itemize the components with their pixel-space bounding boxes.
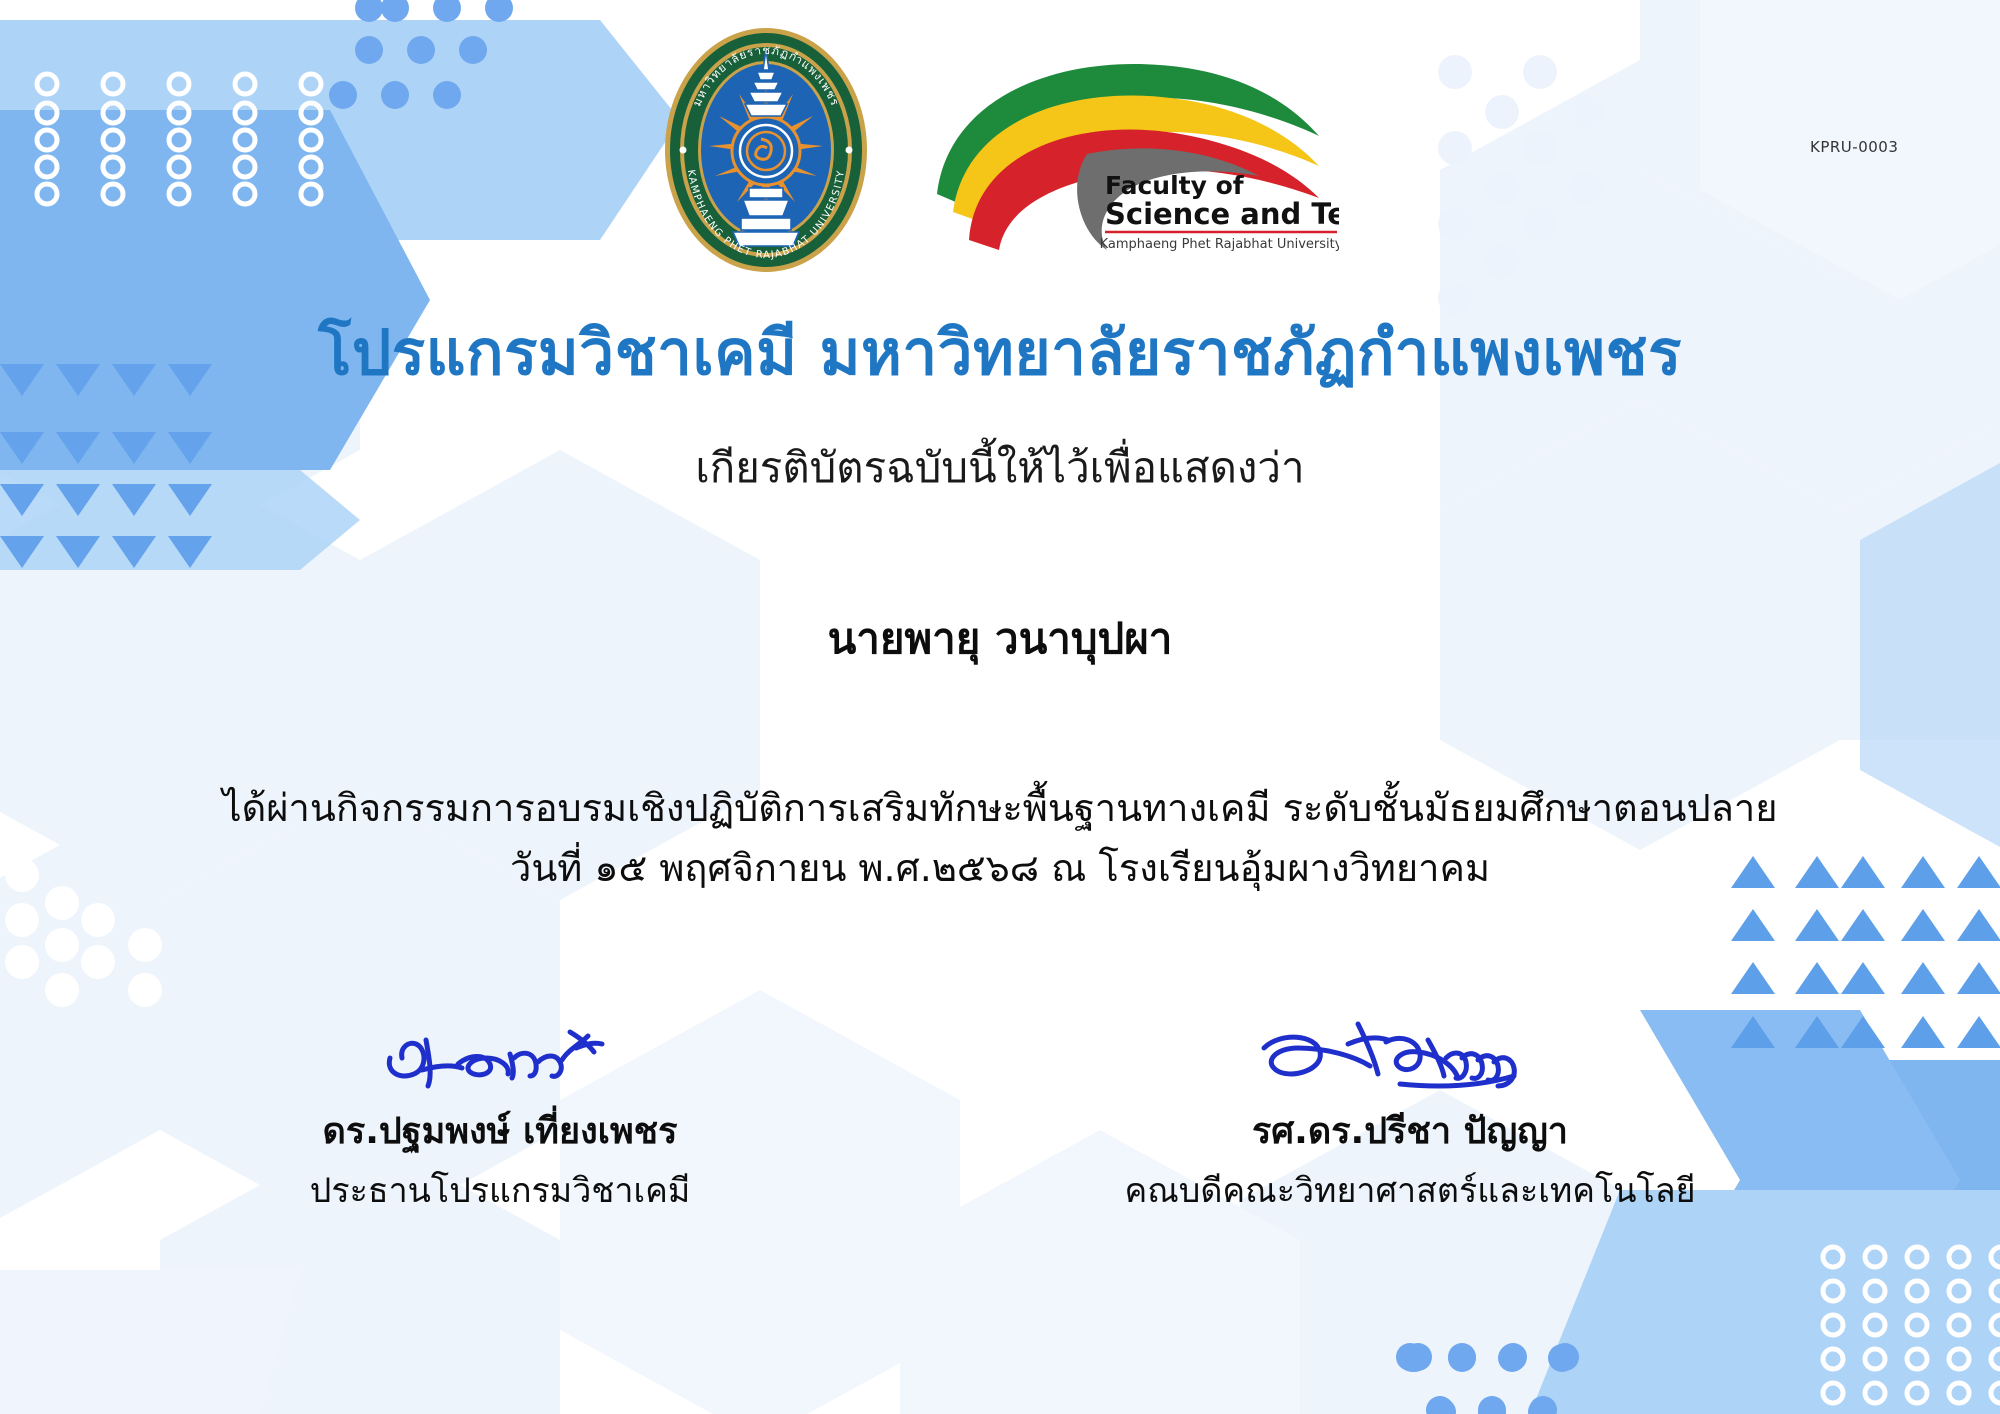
faculty-of-science-and-technology-logo-icon: Faculty of Science and Technology Kampha… — [919, 44, 1339, 258]
faculty-logo-line3: Kamphaeng Phet Rajabhat University — [1100, 237, 1339, 252]
recipient-name: นายพายุ วนาบุปผา — [0, 606, 2000, 672]
certificate-page: KPRU-0003 — [0, 0, 2000, 1414]
body-line-1: ได้ผ่านกิจกรรมการอบรมเชิงปฏิบัติการเสริม… — [0, 778, 2000, 838]
page-title: โปรแกรมวิชาเคมี มหาวิทยาลัยราชภัฏกำแพงเพ… — [0, 318, 2000, 387]
signature-name-right: รศ.ดร.ปรีชา ปัญญา — [1090, 1102, 1730, 1159]
signature-role-right: คณบดีคณะวิทยาศาสตร์และเทคโนโลยี — [1090, 1163, 1730, 1217]
signature-role-left: ประธานโปรแกรมวิชาเคมี — [180, 1163, 820, 1217]
certificate-subtitle: เกียรติบัตรฉบับนี้ให้ไว้เพื่อแสดงว่า — [0, 443, 2000, 493]
signature-name-left: ดร.ปฐมพงษ์ เที่ยงเพชร — [180, 1102, 820, 1159]
kpru-university-seal-icon: มหาวิทยาลัยราชภัฏกำแพงเพชร KAMPHAENG PHE… — [661, 24, 871, 278]
signature-image-left — [180, 1010, 820, 1098]
certificate-body: ได้ผ่านกิจกรรมการอบรมเชิงปฏิบัติการเสริม… — [0, 778, 2000, 898]
signature-block-right: รศ.ดร.ปรีชา ปัญญา คณบดีคณะวิทยาศาสตร์และ… — [1090, 1010, 1730, 1217]
faculty-logo-line1: Faculty of — [1105, 171, 1245, 200]
faculty-logo-line2: Science and Technology — [1105, 197, 1339, 231]
logo-row: มหาวิทยาลัยราชภัฏกำแพงเพชร KAMPHAENG PHE… — [0, 36, 2000, 266]
signature-image-right — [1090, 1010, 1730, 1098]
body-line-2: วันที่ ๑๕ พฤศจิกายน พ.ศ.๒๕๖๘ ณ โรงเรียนอ… — [0, 838, 2000, 898]
signature-block-left: ดร.ปฐมพงษ์ เที่ยงเพชร ประธานโปรแกรมวิชาเ… — [180, 1010, 820, 1217]
